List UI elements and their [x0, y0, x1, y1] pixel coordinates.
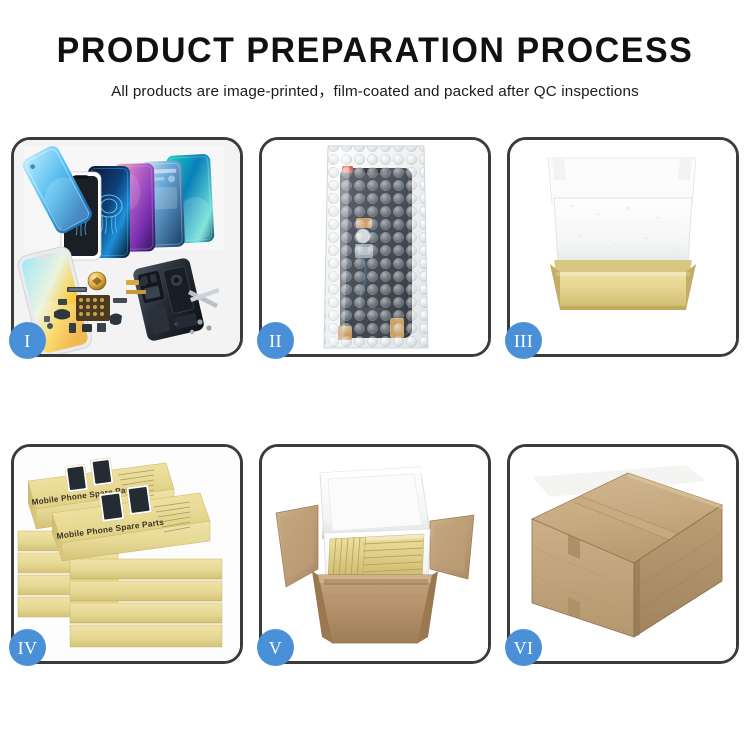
- step-3-image: [510, 140, 736, 354]
- step-badge-5: V: [257, 629, 294, 666]
- sealed-carton-illustration: [510, 447, 736, 661]
- process-step-3[interactable]: III: [507, 137, 739, 357]
- phone-parts-illustration: IC: [14, 140, 240, 354]
- step-6-image: [510, 447, 736, 661]
- process-step-grid: IC: [11, 137, 739, 664]
- step-badge-6: VI: [505, 629, 542, 666]
- step-badge-1: I: [9, 322, 46, 359]
- bubble-wrapped-lcd-illustration: [262, 140, 488, 354]
- step-1-image: IC: [14, 140, 240, 354]
- page-title: PRODUCT PREPARATION PROCESS: [11, 0, 739, 70]
- header: PRODUCT PREPARATION PROCESS All products…: [0, 0, 750, 101]
- step-4-image: Mobile Phone Spare Parts: [14, 447, 240, 661]
- step-2-image: [262, 140, 488, 354]
- process-step-1[interactable]: IC: [11, 137, 243, 357]
- process-step-6[interactable]: VI: [507, 444, 739, 664]
- process-step-2[interactable]: II: [259, 137, 491, 357]
- step-badge-2: II: [257, 322, 294, 359]
- step-badge-3: III: [505, 322, 542, 359]
- step-5-image: [262, 447, 488, 661]
- page-subtitle: All products are image-printed，film-coat…: [0, 70, 750, 101]
- infographic-page: PRODUCT PREPARATION PROCESS All products…: [0, 0, 750, 750]
- stacked-boxes-illustration: Mobile Phone Spare Parts: [14, 447, 240, 661]
- step-badge-4: IV: [9, 629, 46, 666]
- process-step-5[interactable]: V: [259, 444, 491, 664]
- foam-lined-box-illustration: [510, 140, 736, 354]
- process-step-4[interactable]: Mobile Phone Spare Parts: [11, 444, 243, 664]
- carton-with-foam-illustration: [262, 447, 488, 661]
